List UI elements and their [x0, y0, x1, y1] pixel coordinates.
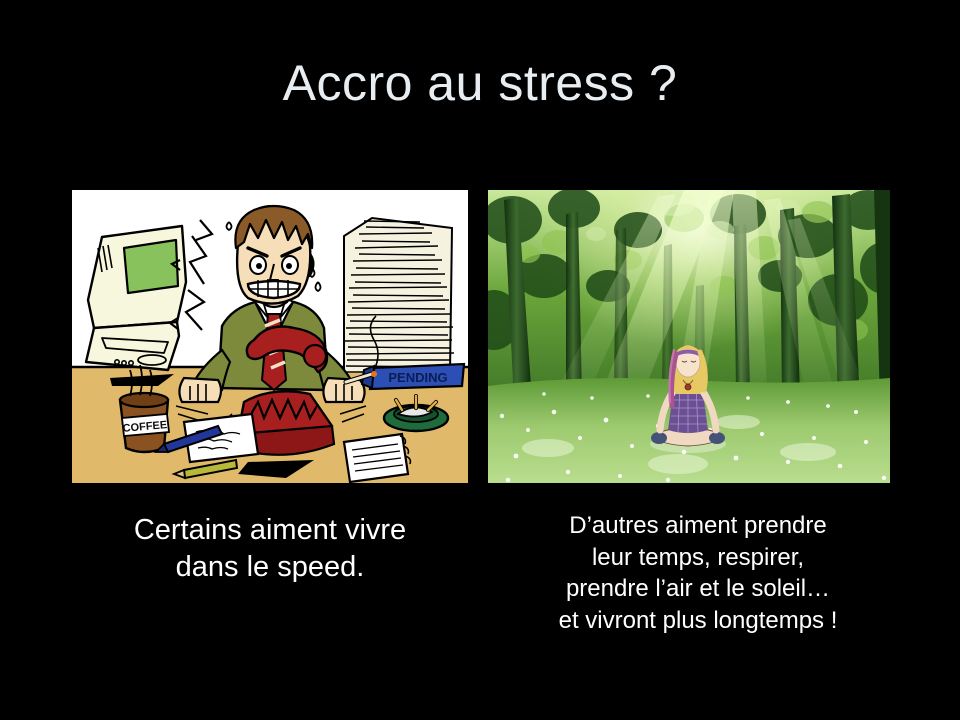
- caption-left-line-2: dans le speed.: [48, 549, 492, 586]
- image-stressed-office-worker: 12 3: [72, 190, 468, 483]
- forest-meditation-illustration: [488, 190, 890, 483]
- pending-label: PENDING: [388, 370, 447, 385]
- slide-root: Accro au stress ?: [0, 0, 960, 720]
- image-forest-meditation: [488, 190, 890, 483]
- crt-monitor-icon: [86, 226, 186, 370]
- caption-right-line-2: leur temps, respirer,: [492, 542, 904, 574]
- page-title: Accro au stress ?: [0, 56, 960, 111]
- caption-right-line-4: et vivront plus longtemps !: [492, 605, 904, 637]
- paper-stack: [344, 218, 454, 373]
- caption-calm: D’autres aiment prendre leur temps, resp…: [492, 510, 904, 637]
- left-hand: [179, 378, 221, 402]
- stressed-worker-illustration: 12 3: [72, 190, 468, 483]
- caption-right-line-1: D’autres aiment prendre: [492, 510, 904, 542]
- pending-tray: PENDING: [362, 364, 464, 389]
- caption-left-line-1: Certains aiment vivre: [48, 512, 492, 549]
- caption-stress: Certains aiment vivre dans le speed.: [48, 512, 492, 586]
- caption-right-line-3: prendre l’air et le soleil…: [492, 573, 904, 605]
- spiral-notepad: [344, 434, 410, 482]
